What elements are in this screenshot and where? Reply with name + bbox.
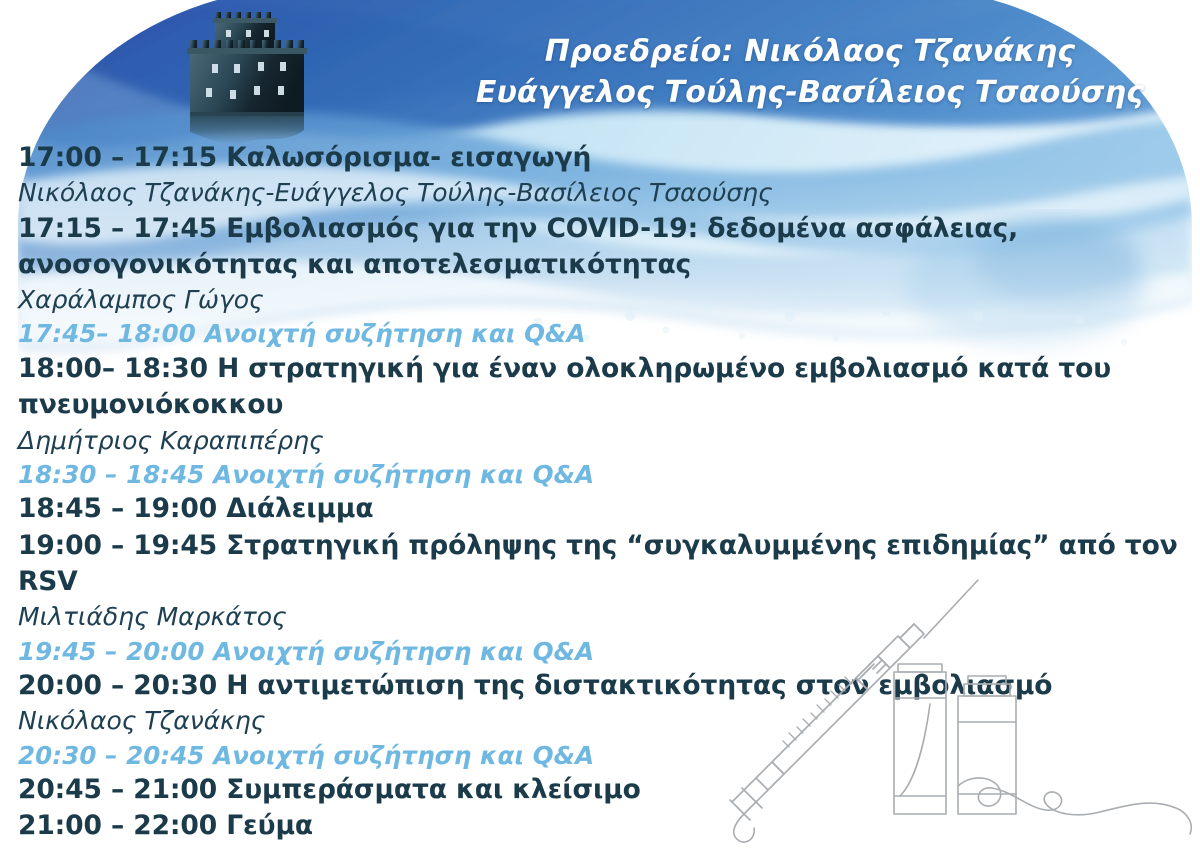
presidium-line-1: Προεδρείο: Νικόλαος Τζανάκης <box>545 34 1075 69</box>
program-line-speaker: Νικόλαος Τζανάκης <box>18 704 1184 738</box>
conference-program-poster: Προεδρείο: Νικόλαος Τζανάκης Ευάγγελος Τ… <box>0 0 1200 857</box>
presidium-line-2: Ευάγγελος Τούλης-Βασίλειος Τσαούσης <box>440 73 1180 114</box>
program-line-speaker: Χαράλαμπος Γώγος <box>18 283 1184 317</box>
program-line-session: 20:45 – 21:00 Συμπεράσματα και κλείσιμο <box>18 772 1184 808</box>
program-line-speaker: Δημήτριος Καραπιπέρης <box>18 424 1184 458</box>
program-line-speaker: Νικόλαος Τζανάκης-Ευάγγελος Τούλης-Βασίλ… <box>18 176 1184 210</box>
page-title: Προεδρείο: Νικόλαος Τζανάκης Ευάγγελος Τ… <box>440 32 1180 114</box>
white-tower-svg <box>168 2 338 154</box>
program-schedule: 17:00 – 17:15 Καλωσόρισμα- εισαγωγήΝικόλ… <box>18 140 1184 845</box>
program-line-session: 21:00 – 22:00 Γεύμα <box>18 808 1184 844</box>
white-tower-icon <box>168 2 338 154</box>
program-line-qa: 19:45 – 20:00 Ανοιχτή συζήτηση και Q&A <box>18 635 1184 669</box>
program-line-session: 17:15 – 17:45 Εμβολιασμός για την COVID-… <box>18 211 1184 284</box>
program-line-session: 17:00 – 17:15 Καλωσόρισμα- εισαγωγή <box>18 140 1184 176</box>
program-line-session: 18:00– 18:30 Η στρατηγική για έναν ολοκλ… <box>18 351 1184 424</box>
program-line-session: 18:45 – 19:00 Διάλειμμα <box>18 491 1184 527</box>
program-line-session: 19:00 – 19:45 Στρατηγική πρόληψης της “σ… <box>18 528 1184 601</box>
program-line-qa: 17:45– 18:00 Ανοιχτή συζήτηση και Q&A <box>18 317 1184 351</box>
program-line-qa: 20:30 – 20:45 Ανοιχτή συζήτηση και Q&A <box>18 739 1184 773</box>
program-line-session: 20:00 – 20:30 Η αντιμετώπιση της διστακτ… <box>18 668 1184 704</box>
program-line-qa: 18:30 – 18:45 Ανοιχτή συζήτηση και Q&A <box>18 458 1184 492</box>
program-line-speaker: Μιλτιάδης Μαρκάτος <box>18 600 1184 634</box>
